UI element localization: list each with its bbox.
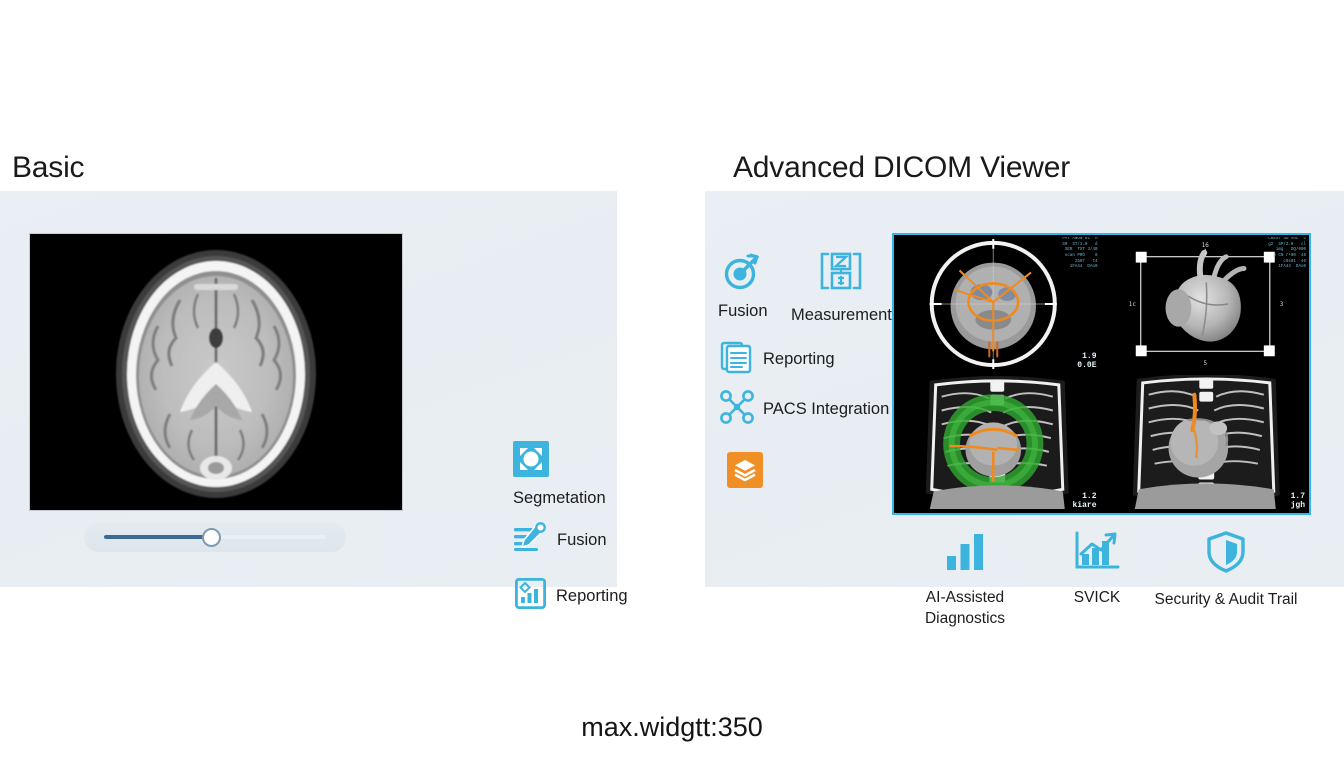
svg-text:1c: 1c xyxy=(1128,301,1136,308)
axial-brain-scan xyxy=(30,234,402,510)
viewport-axial-brain-roi[interactable]: PAT ANON 01 A SR ST/1.0 d SER TXT 3/40 s… xyxy=(894,235,1101,373)
shield-icon xyxy=(1204,530,1248,579)
layers-icon xyxy=(727,452,763,488)
dicom-viewport-grid[interactable]: PAT ANON 01 A SR ST/1.0 d SER TXT 3/40 s… xyxy=(892,233,1311,515)
caption-text: max.widgtt:350 xyxy=(0,712,1344,743)
feature-label-measurement: Measurement xyxy=(791,306,892,325)
viewport-chest-coronal-heart[interactable]: 1.7 jgh xyxy=(1103,375,1310,513)
bottom-feature-ai-diagnostics[interactable]: AI-Assisted Diagnostics xyxy=(890,530,1040,629)
viewport-chest-dose-overlay[interactable]: 1.2 kiare xyxy=(894,375,1101,513)
viewport-corner-label: 1.9 0.0E xyxy=(1077,353,1096,370)
dicom-metadata-overlay: CHEST 3D VOL c g2 SP/2.0 cl img DQ/000 p… xyxy=(1268,237,1306,271)
dicom-metadata-overlay xyxy=(1303,377,1306,383)
feature-label-pacs-integration: PACS Integration xyxy=(763,400,889,419)
viewport-corner-label: 1.2 kiare xyxy=(1072,493,1096,510)
feature-label-reporting-advanced: Reporting xyxy=(763,350,835,369)
segmentation-icon xyxy=(513,441,549,482)
feature-label-reporting-basic: Reporting xyxy=(556,587,628,606)
feature-reporting-basic[interactable]: Reporting xyxy=(515,578,628,614)
advanced-panel-title: Advanced DICOM Viewer xyxy=(733,151,1070,185)
basic-panel: Segmetation Fusion xyxy=(0,191,617,587)
feature-label-fusion-advanced: Fusion xyxy=(718,302,768,321)
fusion-pen-icon xyxy=(513,522,547,559)
measurement-icon xyxy=(818,250,864,297)
slice-slider[interactable] xyxy=(84,522,346,552)
svg-text:3: 3 xyxy=(1279,301,1283,308)
feature-pacs-integration[interactable]: PACS Integration xyxy=(720,390,889,429)
reporting-chart-icon xyxy=(515,578,546,614)
feature-fusion-basic[interactable]: Fusion xyxy=(513,522,607,559)
bottom-feature-svick[interactable]: SVICK xyxy=(1022,530,1172,609)
fusion-target-icon xyxy=(724,252,762,295)
svg-text:5: 5 xyxy=(1203,360,1207,367)
feature-label-segmentation: Segmetation xyxy=(513,489,606,508)
feature-layers[interactable] xyxy=(727,452,772,488)
svg-text:16: 16 xyxy=(1201,242,1209,249)
viewport-corner-label: 1.7 jgh xyxy=(1291,493,1305,510)
dicom-metadata-overlay: PAT ANON 01 A SR ST/1.0 d SER TXT 3/40 s… xyxy=(1062,237,1097,271)
bottom-feature-label-security: Security & Audit Trail xyxy=(1154,590,1297,611)
feature-label-fusion-basic: Fusion xyxy=(557,531,607,550)
reporting-documents-icon xyxy=(720,340,754,379)
pacs-network-icon xyxy=(720,390,754,429)
feature-measurement[interactable]: Measurement xyxy=(791,250,892,325)
feature-reporting-advanced[interactable]: Reporting xyxy=(720,340,835,379)
bar-chart-icon xyxy=(941,530,989,577)
feature-fusion-advanced[interactable]: Fusion xyxy=(718,252,768,321)
bottom-feature-label-ai: AI-Assisted Diagnostics xyxy=(890,588,1040,629)
bottom-feature-security[interactable]: Security & Audit Trail xyxy=(1151,530,1301,611)
axial-brain-viewport[interactable] xyxy=(30,234,402,510)
screenshot-root: Basic xyxy=(0,0,1344,768)
basic-panel-title: Basic xyxy=(12,151,84,185)
feature-segmentation[interactable]: Segmetation xyxy=(513,441,606,508)
slider-thumb[interactable] xyxy=(202,528,221,547)
bottom-feature-label-svick: SVICK xyxy=(1074,588,1121,609)
trend-chart-icon xyxy=(1074,530,1120,577)
viewport-heart-3d[interactable]: 16 1c 3 5 CHEST 3D VOL c g2 SP/2.0 cl im… xyxy=(1103,235,1310,373)
slider-track-fill xyxy=(104,535,211,539)
